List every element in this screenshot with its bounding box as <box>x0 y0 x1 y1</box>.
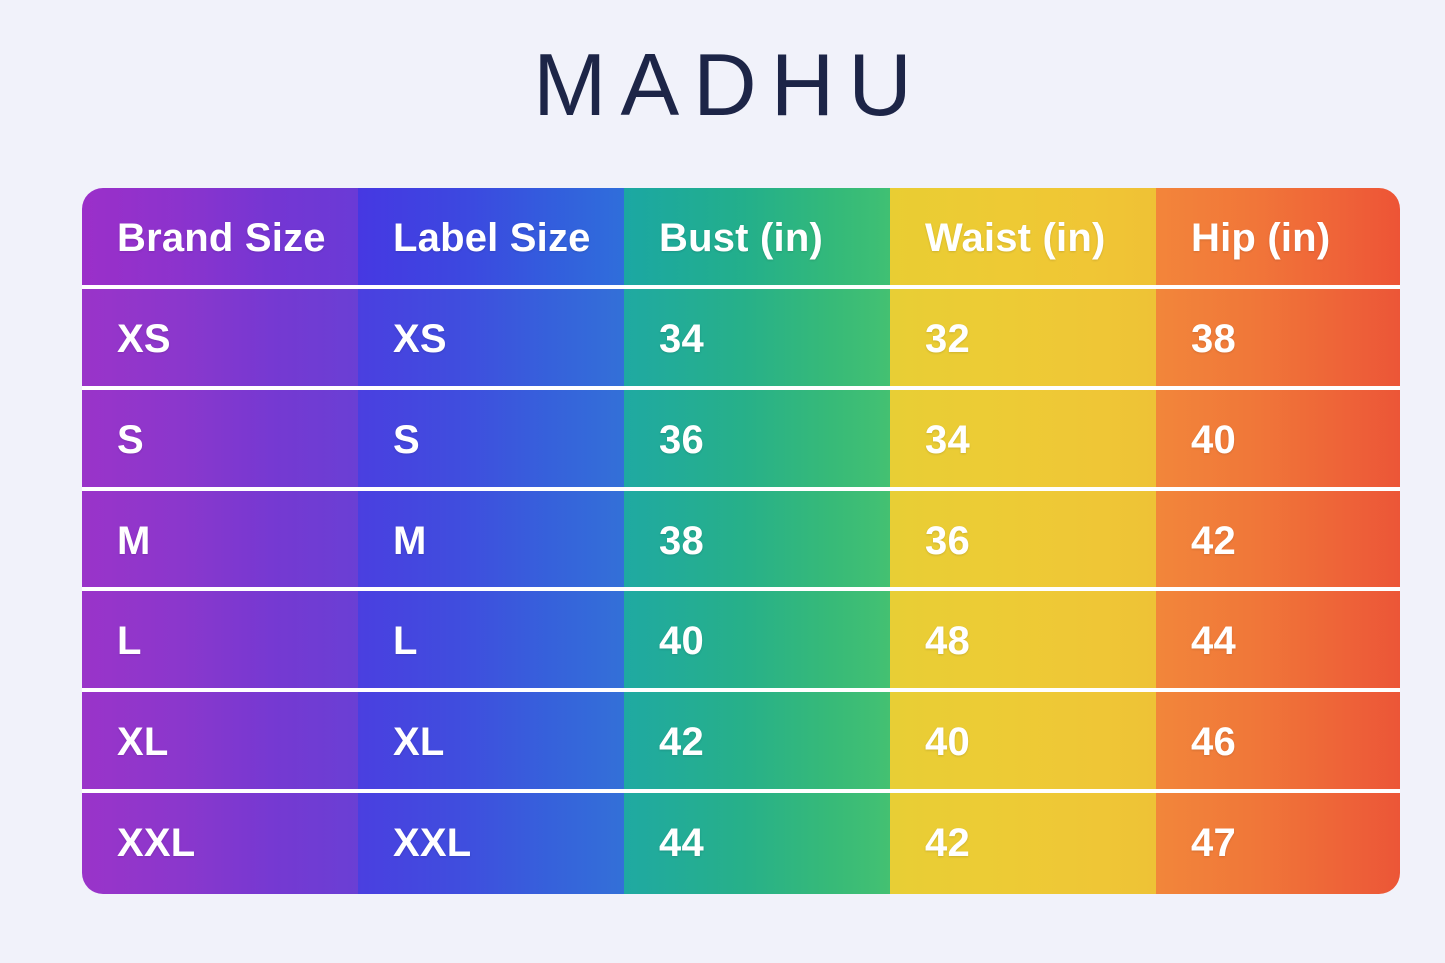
cell-value: L <box>117 619 142 664</box>
cell-hip: 40 <box>1156 390 1400 491</box>
cell-value: S <box>393 418 420 463</box>
cell-value: 42 <box>659 720 704 765</box>
cell-value: S <box>117 418 144 463</box>
cell-waist: 40 <box>890 692 1156 793</box>
cell-value: 34 <box>925 418 970 463</box>
cell-hip: 44 <box>1156 591 1400 692</box>
cell-value: 40 <box>659 619 704 664</box>
size-chart-page: MADHU Brand Size Label Size Bust (in) Wa… <box>0 0 1445 963</box>
cell-brand-size: XL <box>82 692 358 793</box>
brand-title: MADHU <box>0 34 1445 135</box>
cell-brand-size: M <box>82 491 358 592</box>
cell-value: XS <box>393 317 447 362</box>
cell-value: M <box>393 519 427 564</box>
column-header-bust: Bust (in) <box>624 188 890 289</box>
column-header-label: Brand Size <box>117 216 326 261</box>
cell-hip: 42 <box>1156 491 1400 592</box>
cell-value: 44 <box>1191 619 1236 664</box>
cell-waist: 42 <box>890 793 1156 894</box>
cell-waist: 32 <box>890 289 1156 390</box>
cell-bust: 40 <box>624 591 890 692</box>
table-row: S S 36 34 40 <box>82 390 1400 491</box>
cell-value: 42 <box>925 821 970 866</box>
column-header-hip: Hip (in) <box>1156 188 1400 289</box>
table-row: XS XS 34 32 38 <box>82 289 1400 390</box>
cell-bust: 34 <box>624 289 890 390</box>
cell-bust: 36 <box>624 390 890 491</box>
cell-value: 48 <box>925 619 970 664</box>
cell-hip: 47 <box>1156 793 1400 894</box>
cell-value: XL <box>117 720 169 765</box>
size-chart-table: Brand Size Label Size Bust (in) Waist (i… <box>82 188 1400 894</box>
cell-value: 36 <box>925 519 970 564</box>
cell-label-size: XS <box>358 289 624 390</box>
cell-hip: 46 <box>1156 692 1400 793</box>
cell-value: XL <box>393 720 445 765</box>
cell-value: 40 <box>925 720 970 765</box>
cell-bust: 42 <box>624 692 890 793</box>
cell-value: 42 <box>1191 519 1236 564</box>
cell-bust: 38 <box>624 491 890 592</box>
cell-value: L <box>393 619 418 664</box>
cell-value: 44 <box>659 821 704 866</box>
cell-waist: 36 <box>890 491 1156 592</box>
cell-brand-size: S <box>82 390 358 491</box>
cell-bust: 44 <box>624 793 890 894</box>
cell-label-size: XXL <box>358 793 624 894</box>
cell-value: 34 <box>659 317 704 362</box>
cell-value: 32 <box>925 317 970 362</box>
cell-brand-size: XS <box>82 289 358 390</box>
table-row: XL XL 42 40 46 <box>82 692 1400 793</box>
column-header-label: Hip (in) <box>1191 216 1330 261</box>
cell-value: 47 <box>1191 821 1236 866</box>
cell-value: 38 <box>659 519 704 564</box>
cell-brand-size: L <box>82 591 358 692</box>
cell-value: XXL <box>117 821 195 866</box>
cell-value: 40 <box>1191 418 1236 463</box>
column-header-label: Waist (in) <box>925 216 1106 261</box>
cell-label-size: L <box>358 591 624 692</box>
cell-value: 36 <box>659 418 704 463</box>
cell-value: 46 <box>1191 720 1236 765</box>
column-header-label: Label Size <box>393 216 591 261</box>
column-header-waist: Waist (in) <box>890 188 1156 289</box>
table-row: M M 38 36 42 <box>82 491 1400 592</box>
cell-value: M <box>117 519 151 564</box>
cell-label-size: XL <box>358 692 624 793</box>
cell-waist: 48 <box>890 591 1156 692</box>
cell-brand-size: XXL <box>82 793 358 894</box>
cell-waist: 34 <box>890 390 1156 491</box>
cell-value: XXL <box>393 821 471 866</box>
column-header-brand-size: Brand Size <box>82 188 358 289</box>
table-row: L L 40 48 44 <box>82 591 1400 692</box>
table-row: XXL XXL 44 42 47 <box>82 793 1400 894</box>
column-header-label: Bust (in) <box>659 216 823 261</box>
cell-value: 38 <box>1191 317 1236 362</box>
table-header-row: Brand Size Label Size Bust (in) Waist (i… <box>82 188 1400 289</box>
cell-label-size: S <box>358 390 624 491</box>
cell-label-size: M <box>358 491 624 592</box>
column-header-label-size: Label Size <box>358 188 624 289</box>
cell-value: XS <box>117 317 171 362</box>
cell-hip: 38 <box>1156 289 1400 390</box>
